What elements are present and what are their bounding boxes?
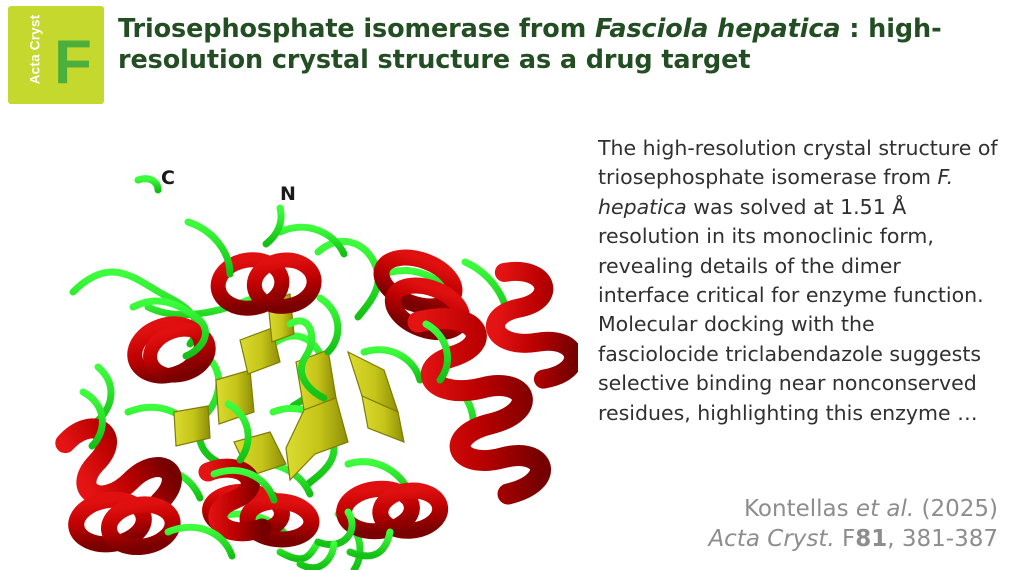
title-species-name: Fasciola hepatica xyxy=(595,14,841,44)
c-terminus-label: C xyxy=(161,167,175,189)
protein-cartoon-svg: C N xyxy=(18,112,578,570)
citation-year: (2025) xyxy=(914,496,998,522)
page-title: Triosephosphate isomerase from Fasciola … xyxy=(118,14,978,76)
citation-journal-name: Acta Cryst. xyxy=(708,526,834,552)
citation-volume-prefix: F xyxy=(835,526,856,552)
citation-volume: 81 xyxy=(855,526,887,552)
protein-structure-figure: C N xyxy=(18,112,578,570)
n-terminus-label: N xyxy=(280,183,296,205)
citation-et-al: et al. xyxy=(856,496,914,522)
citation-line-authors: Kontellas et al. (2025) xyxy=(538,494,998,524)
abstract-text-tail: was solved at 1.51 Å resolution in its m… xyxy=(598,195,984,425)
citation-line-source: Acta Cryst. F81, 381-387 xyxy=(538,524,998,554)
journal-logo-side-text: Acta Cryst xyxy=(28,7,43,93)
citation-block: Kontellas et al. (2025) Acta Cryst. F81,… xyxy=(538,494,998,554)
citation-authors: Kontellas xyxy=(744,496,856,522)
title-text-lead: Triosephosphate isomerase from xyxy=(118,14,595,44)
journal-logo-section-letter: F xyxy=(54,32,92,94)
journal-logo: Acta Cryst F xyxy=(8,6,104,104)
citation-pages: , 381-387 xyxy=(887,526,998,552)
abstract-paragraph: The high-resolution crystal structure of… xyxy=(598,134,998,428)
header-banner: Acta Cryst F Triosephosphate isomerase f… xyxy=(0,0,1014,112)
